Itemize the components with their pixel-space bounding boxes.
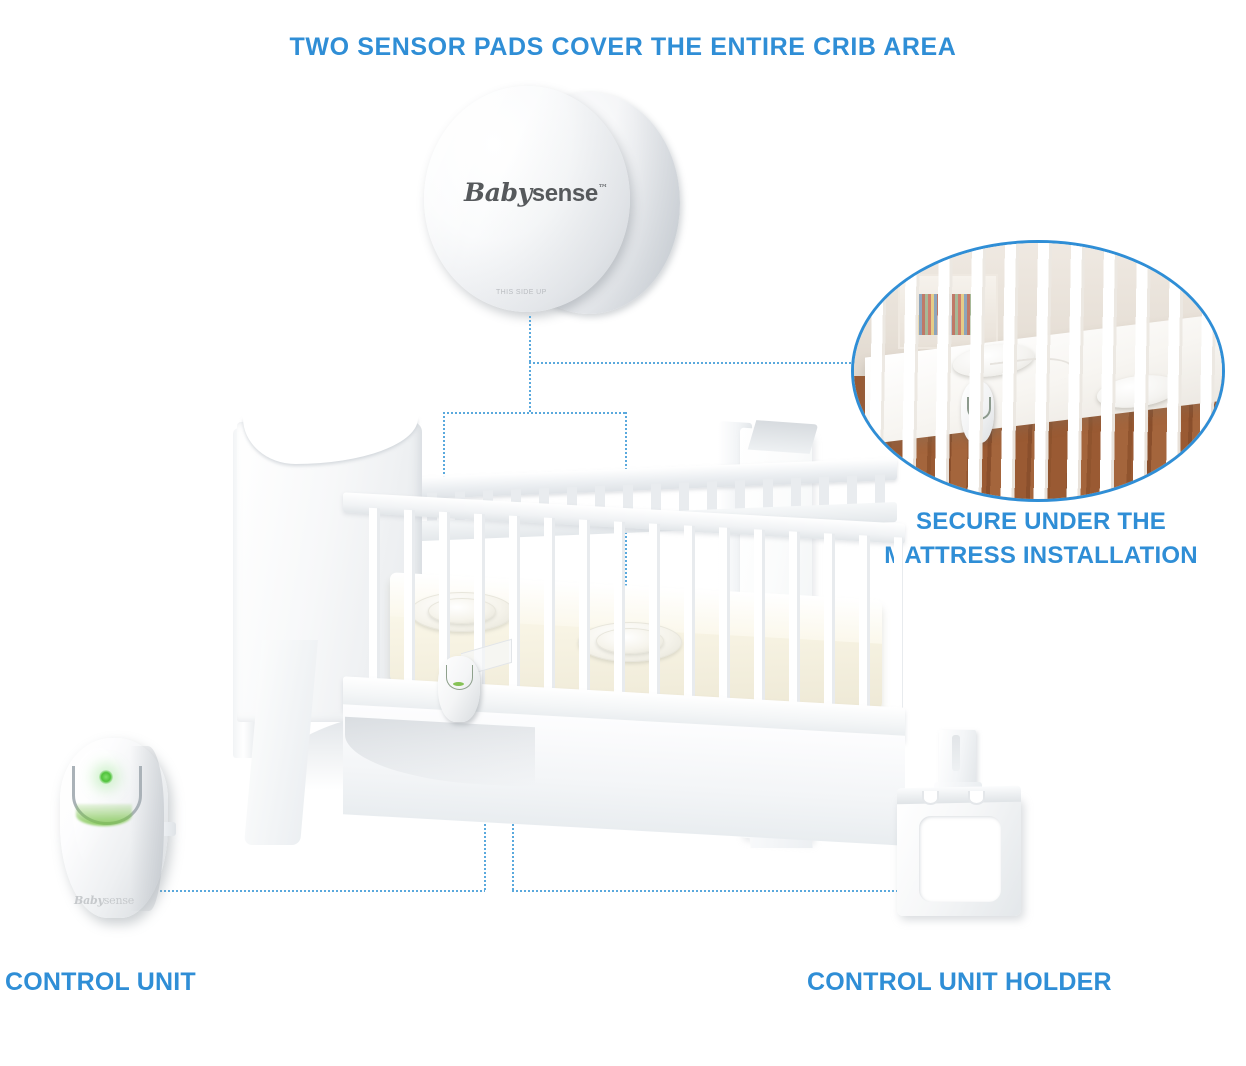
connector-pad-drop-upper (529, 316, 531, 364)
secure-installation-caption: SECURE UNDER THE MATTRESS INSTALLATION (855, 505, 1227, 573)
crib-illustration (225, 410, 835, 865)
control-unit-side-tab (164, 822, 176, 836)
sensor-pads-product: Babysense™ THIS SIDE UP (424, 86, 684, 318)
control-unit-green-glow (76, 804, 132, 826)
control-unit-product: Babysense (52, 738, 182, 924)
logo-sense-text: sense (532, 180, 598, 207)
control-unit-logo-baby: Baby (74, 894, 104, 907)
diagram-canvas: TWO SENSOR PADS COVER THE ENTIRE CRIB AR… (0, 0, 1246, 1066)
babysense-logo: Babysense™ (464, 178, 607, 208)
connector-pad-drop-lower (529, 362, 531, 414)
holder-window-opening (919, 816, 1001, 902)
holder-clip-left (922, 791, 939, 805)
control-unit-caption: CONTROL UNIT (5, 968, 196, 997)
control-unit-holder-product (892, 730, 1028, 920)
logo-baby-text: Baby (464, 178, 532, 207)
crib-mounted-unit-led (453, 682, 464, 686)
holder-stem-slot (952, 735, 960, 771)
connector-holder-horizontal (512, 890, 900, 892)
control-unit-led-indicator (99, 770, 113, 784)
control-unit-holder-caption: CONTROL UNIT HOLDER (807, 968, 1112, 997)
photo-crib-slats (854, 243, 1222, 499)
page-title: TWO SENSOR PADS COVER THE ENTIRE CRIB AR… (0, 33, 1246, 62)
crib-mounted-unit-curve (446, 665, 473, 690)
crib-footboard-notch (748, 420, 819, 454)
connector-control-unit-horizontal (160, 890, 485, 892)
control-unit-logo-sense: sense (104, 894, 134, 907)
holder-top-bar (897, 786, 1021, 805)
control-unit-logo: Babysense (74, 894, 134, 907)
sensor-pad-fineprint: THIS SIDE UP (496, 289, 547, 296)
holder-clip-right (968, 791, 985, 805)
logo-trademark-symbol: ™ (598, 184, 608, 195)
inset-photo-secure-installation (851, 240, 1225, 502)
